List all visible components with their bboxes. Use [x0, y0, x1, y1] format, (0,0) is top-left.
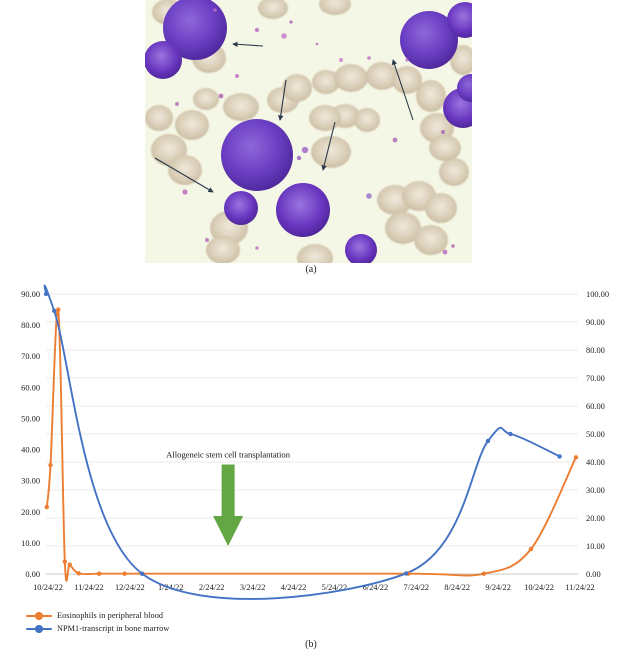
data-point	[68, 562, 72, 566]
svg-text:10/24/22: 10/24/22	[33, 583, 63, 592]
data-point	[508, 432, 512, 436]
grid-lines	[46, 294, 578, 574]
legend-marker-eosinophils	[26, 610, 52, 622]
data-point	[97, 571, 101, 575]
series-line-1	[45, 285, 560, 598]
svg-text:9/24/22: 9/24/22	[485, 583, 511, 592]
svg-text:70.00: 70.00	[21, 352, 40, 361]
y-left-axis-labels: 0.0010.0020.0030.0040.0050.0060.0070.008…	[21, 290, 40, 579]
data-point	[44, 292, 48, 296]
chart-annotations: Allogeneic stem cell transplantation	[166, 449, 291, 546]
svg-text:3/24/22: 3/24/22	[240, 583, 266, 592]
data-point	[56, 307, 60, 311]
legend-item-npm1[interactable]: NPM1-transcript in bone marrow	[26, 622, 169, 635]
data-point	[404, 571, 408, 575]
svg-text:40.00: 40.00	[21, 446, 40, 455]
data-point	[122, 571, 126, 575]
svg-text:20.00: 20.00	[21, 508, 40, 517]
series-lines	[45, 285, 576, 598]
chart-legend: Eosinophils in peripheral blood NPM1-tra…	[26, 609, 169, 635]
svg-text:10/24/22: 10/24/22	[524, 583, 554, 592]
data-point	[48, 463, 52, 467]
svg-text:10.00: 10.00	[21, 539, 40, 548]
svg-text:12/24/22: 12/24/22	[115, 583, 145, 592]
data-point	[63, 559, 67, 563]
svg-text:30.00: 30.00	[586, 486, 605, 495]
data-point	[557, 454, 561, 458]
svg-text:30.00: 30.00	[21, 477, 40, 486]
svg-text:7/24/22: 7/24/22	[404, 583, 430, 592]
panel-b-caption: (b)	[0, 639, 622, 650]
svg-text:80.00: 80.00	[586, 346, 605, 355]
transplant-arrow-icon	[213, 464, 243, 546]
svg-text:0.00: 0.00	[25, 570, 40, 579]
panel-a-caption: (a)	[0, 264, 622, 275]
svg-text:60.00: 60.00	[586, 402, 605, 411]
y-right-axis-labels: 0.0010.0020.0030.0040.0050.0060.0070.008…	[586, 290, 609, 579]
svg-text:50.00: 50.00	[586, 430, 605, 439]
x-axis-labels: 10/24/2211/24/2212/24/221/24/222/24/223/…	[33, 583, 595, 592]
svg-text:4/24/22: 4/24/22	[281, 583, 307, 592]
data-point	[529, 547, 533, 551]
svg-text:100.00: 100.00	[586, 290, 609, 299]
data-point	[52, 309, 56, 313]
panel-b-chart: 0.0010.0020.0030.0040.0050.0060.0070.008…	[0, 284, 622, 639]
svg-text:50.00: 50.00	[21, 414, 40, 423]
transplant-annotation-label: Allogeneic stem cell transplantation	[166, 449, 291, 459]
svg-text:80.00: 80.00	[21, 321, 40, 330]
data-point	[140, 572, 144, 576]
svg-text:2/24/22: 2/24/22	[199, 583, 225, 592]
svg-text:10.00: 10.00	[586, 542, 605, 551]
svg-text:11/24/22: 11/24/22	[565, 583, 594, 592]
data-point	[77, 571, 81, 575]
svg-text:8/24/22: 8/24/22	[444, 583, 470, 592]
legend-marker-npm1	[26, 623, 52, 635]
eosinophil-npm1-line-chart: 0.0010.0020.0030.0040.0050.0060.0070.008…	[0, 284, 622, 604]
data-point	[486, 439, 490, 443]
svg-text:60.00: 60.00	[21, 383, 40, 392]
data-point	[482, 571, 486, 575]
svg-text:40.00: 40.00	[586, 458, 605, 467]
series-line-0	[47, 308, 576, 581]
svg-text:0.00: 0.00	[586, 570, 601, 579]
blood-smear-image	[145, 0, 472, 263]
legend-item-eosinophils[interactable]: Eosinophils in peripheral blood	[26, 609, 169, 622]
svg-text:20.00: 20.00	[586, 514, 605, 523]
data-point	[574, 455, 578, 459]
svg-text:11/24/22: 11/24/22	[74, 583, 103, 592]
svg-text:90.00: 90.00	[586, 318, 605, 327]
panel-a-micrograph	[145, 0, 472, 263]
svg-text:90.00: 90.00	[21, 290, 40, 299]
svg-text:70.00: 70.00	[586, 374, 605, 383]
legend-label-eosinophils: Eosinophils in peripheral blood	[57, 611, 163, 620]
data-point	[45, 505, 49, 509]
legend-label-npm1: NPM1-transcript in bone marrow	[57, 624, 169, 633]
